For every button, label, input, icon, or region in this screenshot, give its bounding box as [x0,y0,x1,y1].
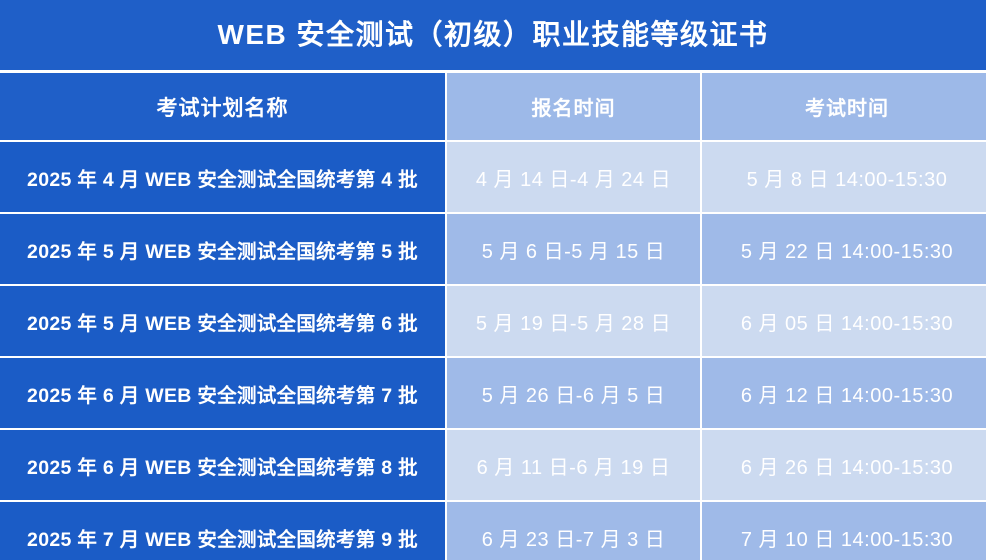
cell-plan-name: 2025 年 5 月 WEB 安全测试全国统考第 5 批 [0,214,445,284]
cell-plan-name: 2025 年 7 月 WEB 安全测试全国统考第 9 批 [0,502,445,560]
cell-registration-time: 4 月 14 日-4 月 24 日 [447,142,700,212]
table-row: 2025 年 5 月 WEB 安全测试全国统考第 6 批 5 月 19 日-5 … [0,286,986,356]
page-title: WEB 安全测试（初级）职业技能等级证书 [217,21,768,49]
table-header: 考试计划名称 报名时间 考试时间 [0,73,986,140]
column-header-plan-name: 考试计划名称 [0,73,445,140]
table-body: 2025 年 4 月 WEB 安全测试全国统考第 4 批 4 月 14 日-4 … [0,142,986,560]
cell-registration-time: 6 月 11 日-6 月 19 日 [447,430,700,500]
cell-exam-time: 6 月 12 日 14:00-15:30 [702,358,986,428]
cell-plan-name: 2025 年 6 月 WEB 安全测试全国统考第 8 批 [0,430,445,500]
cell-registration-time: 5 月 26 日-6 月 5 日 [447,358,700,428]
cell-exam-time: 6 月 05 日 14:00-15:30 [702,286,986,356]
cell-exam-time: 7 月 10 日 14:00-15:30 [702,502,986,560]
table-row: 2025 年 7 月 WEB 安全测试全国统考第 9 批 6 月 23 日-7 … [0,502,986,560]
cell-plan-name: 2025 年 6 月 WEB 安全测试全国统考第 7 批 [0,358,445,428]
cell-registration-time: 5 月 6 日-5 月 15 日 [447,214,700,284]
exam-schedule-page: WEB 安全测试（初级）职业技能等级证书 考试计划名称 报名时间 考试时间 20… [0,0,986,560]
cell-registration-time: 6 月 23 日-7 月 3 日 [447,502,700,560]
column-header-exam-time: 考试时间 [702,73,986,140]
table-row: 2025 年 5 月 WEB 安全测试全国统考第 5 批 5 月 6 日-5 月… [0,214,986,284]
table-row: 2025 年 6 月 WEB 安全测试全国统考第 8 批 6 月 11 日-6 … [0,430,986,500]
cell-plan-name: 2025 年 5 月 WEB 安全测试全国统考第 6 批 [0,286,445,356]
cell-registration-time: 5 月 19 日-5 月 28 日 [447,286,700,356]
exam-schedule-table: 考试计划名称 报名时间 考试时间 2025 年 4 月 WEB 安全测试全国统考… [0,71,986,560]
cell-exam-time: 6 月 26 日 14:00-15:30 [702,430,986,500]
table-row: 2025 年 6 月 WEB 安全测试全国统考第 7 批 5 月 26 日-6 … [0,358,986,428]
table-row: 2025 年 4 月 WEB 安全测试全国统考第 4 批 4 月 14 日-4 … [0,142,986,212]
table-header-row: 考试计划名称 报名时间 考试时间 [0,73,986,140]
page-title-banner: WEB 安全测试（初级）职业技能等级证书 [0,0,986,70]
cell-plan-name: 2025 年 4 月 WEB 安全测试全国统考第 4 批 [0,142,445,212]
column-header-registration-time: 报名时间 [447,73,700,140]
cell-exam-time: 5 月 8 日 14:00-15:30 [702,142,986,212]
cell-exam-time: 5 月 22 日 14:00-15:30 [702,214,986,284]
